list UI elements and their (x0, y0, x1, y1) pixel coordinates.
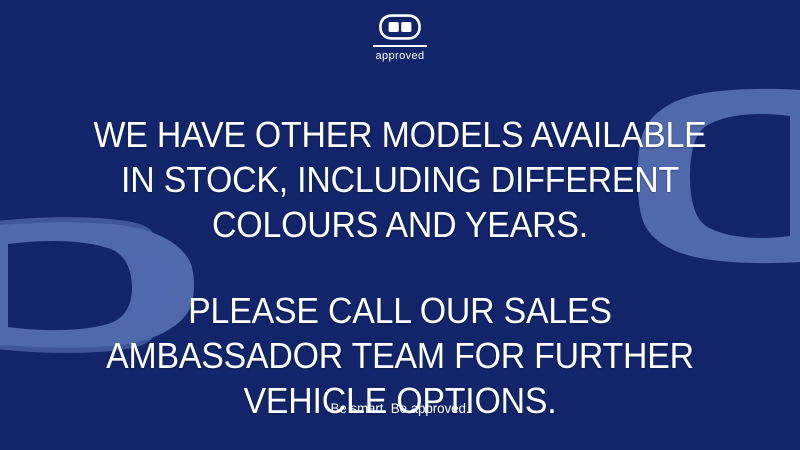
paragraph-spacer (0, 247, 800, 288)
brand-divider (373, 45, 427, 47)
headline-paragraph-1: WE HAVE OTHER MODELS AVAILABLE IN STOCK,… (24, 112, 776, 247)
headline-block: WE HAVE OTHER MODELS AVAILABLE IN STOCK,… (0, 112, 800, 423)
brand-wordmark: approved (0, 50, 800, 63)
brand-logo: approved (0, 14, 800, 63)
tagline: Be smart. Be approved. (16, 399, 784, 417)
car-top-view-icon (379, 14, 421, 40)
